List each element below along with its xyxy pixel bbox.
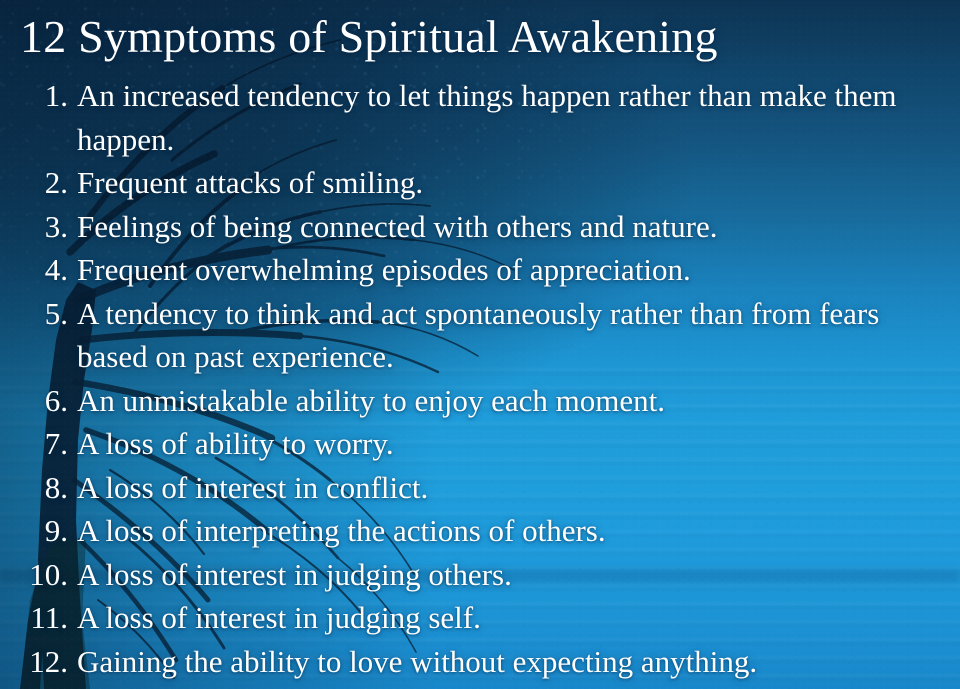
list-item-number: 10. [24, 553, 77, 597]
page-title: 12 Symptoms of Spiritual Awakening [20, 8, 940, 66]
list-item-text: Frequent attacks of smiling. [77, 161, 940, 205]
list-item-number: 5. [24, 292, 77, 336]
list-item-text: A loss of interest in judging self. [77, 596, 940, 640]
list-item-text: A loss of ability to worry. [77, 422, 940, 466]
list-item-number: 11. [24, 596, 77, 640]
list-item-text: An increased tendency to let things happ… [77, 74, 940, 161]
list-item-number: 12. [24, 640, 77, 684]
list-item: 2. Frequent attacks of smiling. [24, 161, 940, 205]
list-item: 4. Frequent overwhelming episodes of app… [24, 248, 940, 292]
list-item-text: Gaining the ability to love without expe… [77, 640, 940, 684]
list-item-text: A loss of interest in conflict. [77, 466, 940, 510]
spiritual-awakening-poster: 12 Symptoms of Spiritual Awakening 1. An… [0, 0, 960, 689]
list-item-number: 6. [24, 379, 77, 423]
list-item-text: A loss of interest in judging others. [77, 553, 940, 597]
list-item-number: 8. [24, 466, 77, 510]
list-item: 3. Feelings of being connected with othe… [24, 205, 940, 249]
list-item-text: Feelings of being connected with others … [77, 205, 940, 249]
list-item: 6. An unmistakable ability to enjoy each… [24, 379, 940, 423]
list-item: 10. A loss of interest in judging others… [24, 553, 940, 597]
symptom-list: 1. An increased tendency to let things h… [24, 74, 940, 683]
list-item: 11. A loss of interest in judging self. [24, 596, 940, 640]
list-item: 12. Gaining the ability to love without … [24, 640, 940, 684]
list-item-number: 7. [24, 422, 77, 466]
list-item-number: 1. [24, 74, 77, 118]
list-item: 1. An increased tendency to let things h… [24, 74, 940, 161]
list-item-number: 4. [24, 248, 77, 292]
list-item-number: 2. [24, 161, 77, 205]
list-item-text: A loss of interpreting the actions of ot… [77, 509, 940, 553]
list-item: 9. A loss of interpreting the actions of… [24, 509, 940, 553]
list-item-text: A tendency to think and act spontaneousl… [77, 292, 940, 379]
list-item: 5. A tendency to think and act spontaneo… [24, 292, 940, 379]
list-item-number: 3. [24, 205, 77, 249]
list-item-number: 9. [24, 509, 77, 553]
list-item: 7. A loss of ability to worry. [24, 422, 940, 466]
list-item: 8. A loss of interest in conflict. [24, 466, 940, 510]
poster-content: 12 Symptoms of Spiritual Awakening 1. An… [0, 0, 960, 689]
list-item-text: Frequent overwhelming episodes of apprec… [77, 248, 940, 292]
list-item-text: An unmistakable ability to enjoy each mo… [77, 379, 940, 423]
